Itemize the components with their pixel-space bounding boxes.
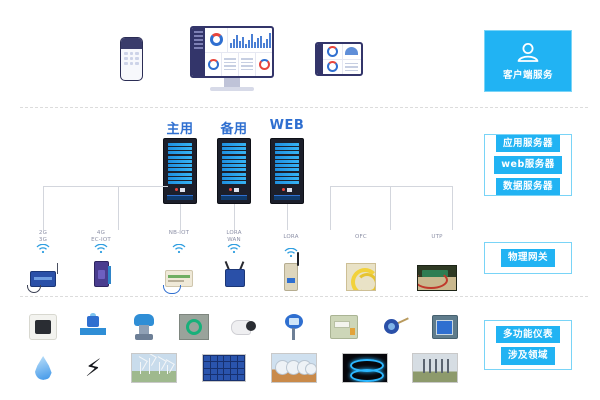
legend-web-server[interactable]: web服务器 [494, 156, 562, 174]
area-chart-icon [345, 47, 358, 55]
gateway-lora: LORA [262, 234, 320, 291]
connector-rack1-drop [180, 204, 181, 230]
donut-chart-icon [327, 46, 338, 57]
gas-meter-icon [319, 310, 369, 344]
tier-divider-gateways-devices [20, 296, 588, 297]
valve-actuator-icon [169, 310, 219, 344]
wind-farm-icon [118, 352, 188, 384]
gas-burner-flame-icon [329, 352, 399, 384]
gateway-utp: UTP [408, 234, 466, 291]
connector-rack3-drop [287, 204, 288, 230]
bar-chart-icon [230, 32, 271, 48]
connector-right-drop-1 [390, 186, 391, 230]
instrument-row [18, 310, 470, 344]
electrical-substation-icon [400, 352, 470, 384]
legend-client-label: 客户端服务 [503, 71, 553, 81]
legend-gateway-group[interactable]: 物理网关 [484, 242, 572, 274]
smartphone-icon [120, 37, 143, 81]
server-label-backup: 备用 [212, 118, 256, 137]
connector-right-drop-0 [330, 186, 331, 230]
user-icon [515, 42, 541, 68]
gateway-4g-ecoit: 4G EC-IOT [72, 230, 130, 287]
donut-chart-icon [327, 61, 338, 72]
wifi-icon [150, 244, 208, 253]
wifi-placeholder [332, 248, 390, 257]
tier-divider-clients-servers [20, 107, 588, 108]
panel-display-icon [420, 310, 470, 344]
server-rack-primary [163, 138, 197, 204]
wifi-icon [262, 248, 320, 257]
dashboard-sidebar [192, 28, 205, 76]
fiber-optic-cable-icon [346, 263, 376, 291]
gateway-label: 2G 3G [14, 230, 72, 244]
phone-app-grid [121, 49, 142, 68]
donut-chart-icon [208, 59, 219, 70]
gateway-label: UTP [408, 234, 466, 248]
monitor-base [210, 87, 254, 91]
monitor-stand [224, 78, 240, 87]
server-rack-backup [217, 138, 251, 204]
desktop-monitor-icon [190, 26, 274, 91]
gateway-ofc: OFC [332, 234, 390, 291]
server-label-web: WEB [265, 118, 309, 133]
electromagnetic-flowmeter-icon [68, 310, 118, 344]
connector-rack2-drop [234, 204, 235, 230]
legend-device-group[interactable]: 多功能仪表 涉及领域 [484, 320, 572, 370]
donut-chart-icon [210, 33, 223, 46]
data-list-icon [241, 58, 252, 70]
phone-header [121, 38, 142, 49]
gateway-label: LORA [262, 234, 320, 248]
gateway-2g3g: 2G 3G [14, 230, 72, 287]
wifi-icon [14, 244, 72, 253]
dashboard-body [205, 28, 272, 76]
server-label-primary: 主用 [158, 118, 202, 137]
legend-app-server[interactable]: 应用服务器 [496, 135, 560, 153]
connector-left-drop-2 [118, 186, 119, 230]
legend-multifunction-meter[interactable]: 多功能仪表 [496, 326, 560, 344]
wifi-icon [72, 244, 130, 253]
server-rack-web [270, 138, 304, 204]
architecture-diagram: 主用 备用 WEB 2G 3G 4G EC-IOT [0, 0, 600, 400]
connector-right-drop-2 [452, 186, 453, 230]
water-meter-icon [370, 310, 420, 344]
connector-right-bus [330, 186, 452, 187]
data-list-icon [345, 63, 358, 72]
digital-meter-icon [18, 310, 68, 344]
monitor-screen [190, 26, 274, 78]
gas-detector-icon [269, 310, 319, 344]
electricity-bolt-icon: ⚡ [68, 352, 118, 384]
pressure-transmitter-icon [118, 310, 168, 344]
wifi-placeholder [408, 248, 466, 257]
legend-application-domain[interactable]: 涉及领域 [501, 347, 555, 365]
domain-row: ⚡ [18, 352, 470, 384]
legend-physical-gateway[interactable]: 物理网关 [501, 249, 555, 267]
gateway-label: 4G EC-IOT [72, 230, 130, 244]
tablet-icon [315, 42, 363, 76]
gateway-lorawan: LORA WAN [205, 230, 263, 287]
gateway-label: NB-IOT [150, 230, 208, 244]
solar-panel-icon [189, 352, 259, 384]
tablet-body [323, 44, 361, 74]
connector-left-bus [43, 186, 168, 187]
gateway-label: LORA WAN [205, 230, 263, 244]
data-list-icon [224, 58, 235, 70]
gas-tank-farm-icon [259, 352, 329, 384]
utp-cable-icon [417, 265, 457, 291]
connector-left-drop-1 [43, 186, 44, 230]
legend-client-service[interactable]: 客户端服务 [484, 30, 572, 92]
wifi-icon [205, 244, 263, 253]
legend-server-group[interactable]: 应用服务器 web服务器 数据服务器 [484, 134, 572, 196]
gateway-nbiot: NB-IOT [150, 230, 208, 287]
gauge-chart-icon [259, 59, 270, 70]
legend-data-server[interactable]: 数据服务器 [496, 178, 560, 196]
gateway-label: OFC [332, 234, 390, 248]
water-drop-icon [18, 352, 68, 384]
ip-camera-icon [219, 310, 269, 344]
